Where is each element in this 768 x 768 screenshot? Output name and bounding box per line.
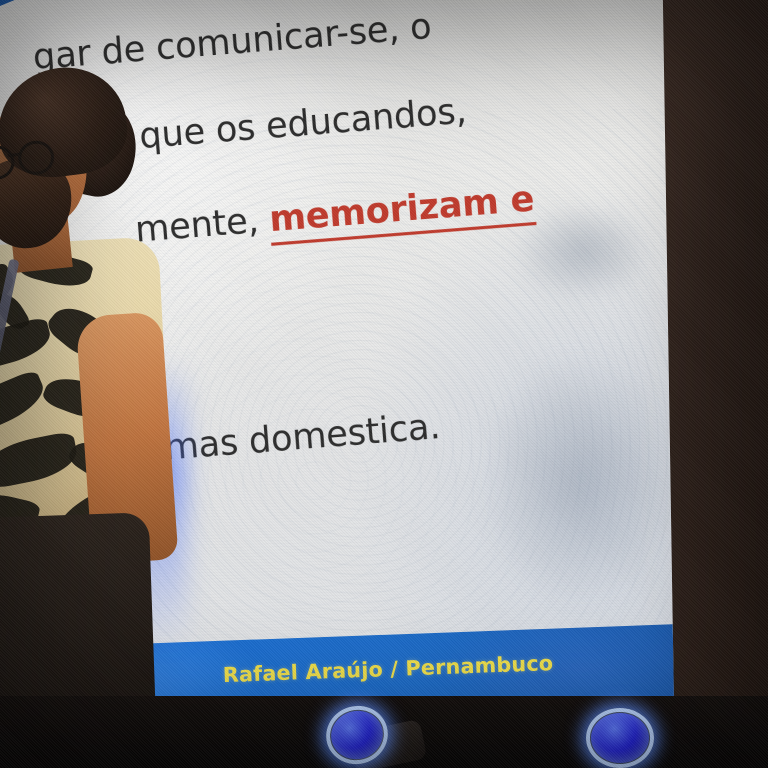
slide-line-3: mente, memorizam e bbox=[134, 179, 536, 252]
stage-photo: egar de comunicar-se, o ,ositos que os e… bbox=[0, 0, 768, 768]
slide-line-3-highlight: memorizam e bbox=[268, 179, 536, 246]
stage-light-right bbox=[586, 708, 654, 768]
speaker-figure bbox=[0, 46, 192, 768]
